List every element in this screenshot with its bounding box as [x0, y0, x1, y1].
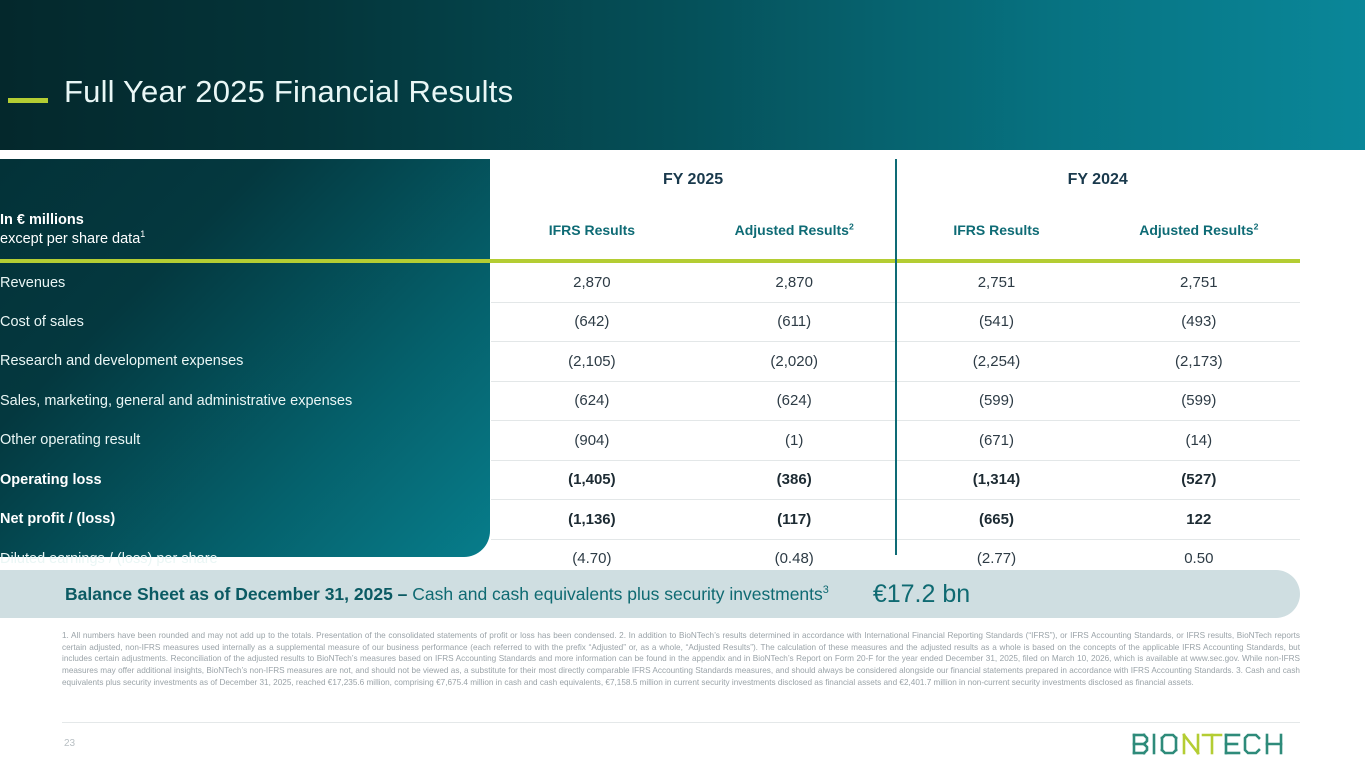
footnotes: 1. All numbers have been rounded and may… [62, 630, 1300, 688]
table-cell: 2,870 [693, 263, 895, 302]
table-cell: (2,173) [1098, 342, 1300, 382]
table-cell: (14) [1098, 421, 1300, 461]
table-cell: (624) [693, 381, 895, 421]
table-cell: (1,136) [491, 500, 693, 540]
group-header-1: FY 2025 [491, 159, 896, 201]
table-row: Sales, marketing, general and administra… [0, 381, 1300, 421]
column-header-4: Adjusted Results2 [1098, 201, 1300, 259]
balance-sheet-banner: Balance Sheet as of December 31, 2025 – … [0, 570, 1300, 618]
table-cell: (1,314) [895, 460, 1097, 500]
slide: Full Year 2025 Financial Results FY 2025… [0, 0, 1365, 768]
group-header-spacer [0, 159, 491, 201]
table-row: Net profit / (loss)(1,136)(117)(665)122 [0, 500, 1300, 540]
table-cell: (2,020) [693, 342, 895, 382]
table-cell: 122 [1098, 500, 1300, 540]
table-cell: (624) [491, 381, 693, 421]
table-row: Cost of sales(642)(611)(541)(493) [0, 302, 1300, 342]
footer-divider [62, 722, 1300, 723]
financial-table: FY 2025FY 2024In € millionsexcept per sh… [0, 159, 1300, 578]
balance-sheet-normal: Cash and cash equivalents plus security … [412, 584, 823, 604]
column-header-2: Adjusted Results2 [693, 201, 895, 259]
page-number: 23 [64, 738, 75, 749]
table-cell: (117) [693, 500, 895, 540]
table-cell: (1,405) [491, 460, 693, 500]
balance-sheet-text: Balance Sheet as of December 31, 2025 – … [65, 584, 829, 605]
slide-header: Full Year 2025 Financial Results [0, 0, 1365, 150]
table-cell: (599) [1098, 381, 1300, 421]
column-header-1: IFRS Results [491, 201, 693, 259]
biontech-logo [1131, 733, 1303, 755]
table-cell: (386) [693, 460, 895, 500]
table-row: Other operating result(904)(1)(671)(14) [0, 421, 1300, 461]
table-cell: (527) [1098, 460, 1300, 500]
table-cell: 2,751 [895, 263, 1097, 302]
biontech-logo-icon [1131, 732, 1303, 756]
balance-sheet-amount: €17.2 bn [873, 580, 970, 609]
column-header-3: IFRS Results [895, 201, 1097, 259]
row-label: Research and development expenses [0, 342, 491, 382]
page-title: Full Year 2025 Financial Results [64, 74, 513, 110]
table-cell: (2,254) [895, 342, 1097, 382]
table-cell: (493) [1098, 302, 1300, 342]
table-cell: (665) [895, 500, 1097, 540]
table-cell: (671) [895, 421, 1097, 461]
table-group-header-row: FY 2025FY 2024 [0, 159, 1300, 201]
table-cell: (904) [491, 421, 693, 461]
row-label: Operating loss [0, 460, 491, 500]
row-label: Sales, marketing, general and administra… [0, 381, 491, 421]
group-header-2: FY 2024 [895, 159, 1300, 201]
table-cell: (611) [693, 302, 895, 342]
row-label: Net profit / (loss) [0, 500, 491, 540]
unit-label: In € millionsexcept per share data1 [0, 201, 491, 259]
year-group-divider [895, 159, 897, 555]
balance-sheet-strong: Balance Sheet as of December 31, 2025 – [65, 584, 412, 604]
table-cell: 2,870 [491, 263, 693, 302]
table-row: Revenues2,8702,8702,7512,751 [0, 263, 1300, 302]
table-cell: (599) [895, 381, 1097, 421]
table-cell: (642) [491, 302, 693, 342]
balance-sheet-footnote-marker: 3 [823, 584, 829, 596]
table-cell: (541) [895, 302, 1097, 342]
row-label: Cost of sales [0, 302, 491, 342]
table-cell: (2,105) [491, 342, 693, 382]
row-label: Revenues [0, 263, 491, 302]
table-row: Research and development expenses(2,105)… [0, 342, 1300, 382]
table-row: Operating loss(1,405)(386)(1,314)(527) [0, 460, 1300, 500]
table-cell: 2,751 [1098, 263, 1300, 302]
table-subheader-row: In € millionsexcept per share data1IFRS … [0, 201, 1300, 259]
financial-table-wrap: FY 2025FY 2024In € millionsexcept per sh… [0, 159, 1365, 559]
table-cell: (1) [693, 421, 895, 461]
row-label: Other operating result [0, 421, 491, 461]
header-accent-bar [8, 98, 48, 103]
